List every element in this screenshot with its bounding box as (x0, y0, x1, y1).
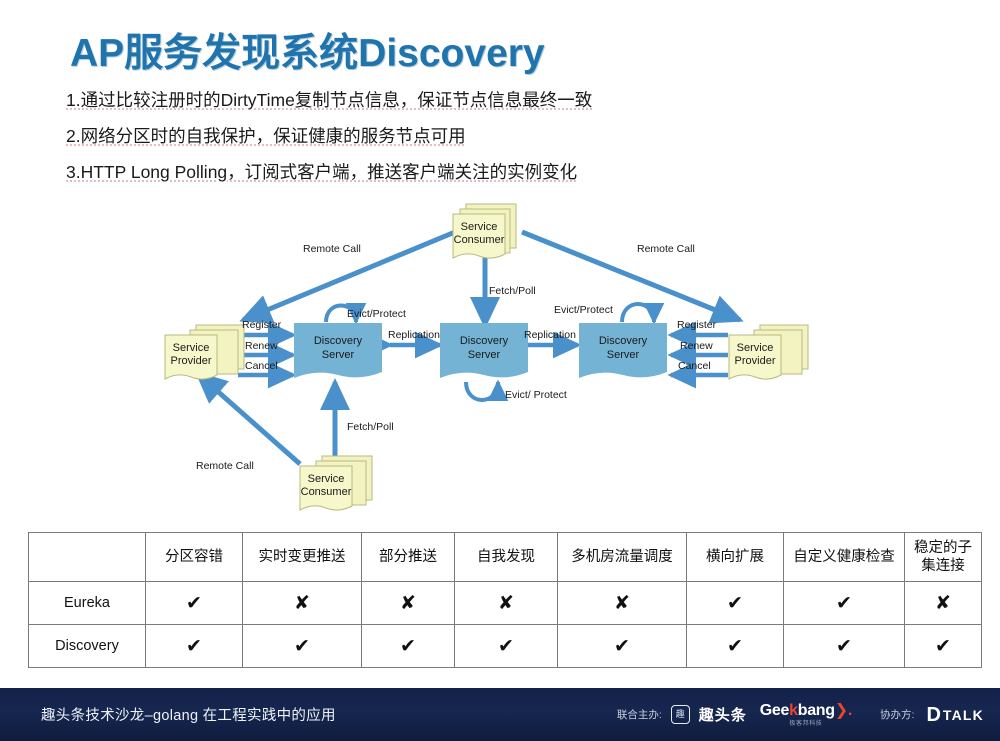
edge-label-replication-right: Replication (524, 329, 576, 341)
qutoutiao-logo-icon: 趣 (671, 705, 690, 724)
footer-title: 趣头条技术沙龙–golang 在工程实践中的应用 (41, 704, 336, 725)
table-cell: ✔ (146, 582, 243, 625)
node-discovery-server-left: Discovery Server (294, 323, 382, 378)
partner-label: 协办方: (880, 707, 914, 722)
table-cell: ✘ (455, 582, 558, 625)
table-cell: ✘ (362, 582, 455, 625)
edge-label-evict-protect-left: Evict/Protect (347, 308, 406, 320)
edge-evict-protect-middle (466, 382, 498, 400)
node-label: Provider (171, 355, 212, 367)
edge-label-replication-left: Replication (388, 329, 440, 341)
dtalk-wordmark: TALK (943, 707, 984, 723)
table-cell: ✘ (558, 582, 687, 625)
status-mark: ✔ (498, 636, 514, 657)
table-header-line1: 稳定的子 (905, 539, 981, 557)
table-cell: ✔ (558, 625, 687, 668)
status-mark: ✘ (614, 593, 630, 614)
node-label: Consumer (454, 234, 505, 246)
edge-label-renew-right: Renew (680, 340, 713, 352)
node-discovery-server-middle: Discovery Server (440, 323, 528, 378)
table-cell: ✔ (905, 625, 982, 668)
edge-label-remote-call-top-left: Remote Call (303, 243, 361, 255)
node-service-consumer-bottom: Service Consumer (300, 456, 372, 510)
table-cell: ✔ (687, 625, 784, 668)
dtalk-d-mark: D (926, 705, 940, 725)
bullet-item-2: 2.网络分区时的自我保护，保证健康的服务节点可用 (66, 121, 826, 152)
node-label: Service (308, 473, 345, 485)
table-cell: ✔ (784, 625, 905, 668)
table-cell: ✔ (687, 582, 784, 625)
edge-evict-protect-right (622, 304, 654, 322)
sponsor-bar: 联合主办: 趣 趣头条 Geekbang❯. 极客邦科技 协办方: D TALK (617, 688, 984, 741)
edge-label-evict-protect-middle: Evict/ Protect (505, 389, 567, 401)
architecture-diagram: Service Consumer Service Consumer Servic… (0, 192, 1000, 522)
table-header-cell: 分区容错 (146, 533, 243, 582)
node-label: Provider (735, 355, 776, 367)
geekbang-arrow-icon: ❯. (835, 702, 852, 719)
bullet-list: 1.通过比较注册时的DirtyTime复制节点信息，保证节点信息最终一致 2.网… (66, 85, 826, 193)
status-mark: ✔ (294, 636, 310, 657)
table-header-cell: 稳定的子 集连接 (905, 533, 982, 582)
geekbang-part-k: k (789, 702, 798, 719)
geekbang-subtitle: 极客邦科技 (789, 721, 822, 727)
page-title: AP服务发现系统Discovery (70, 22, 545, 78)
node-label: Discovery (599, 335, 648, 347)
edge-label-remote-call-bottom-left: Remote Call (196, 460, 254, 472)
edge-label-renew-left: Renew (245, 340, 278, 352)
table-header-cell: 部分推送 (362, 533, 455, 582)
edge-label-fetch-poll-top: Fetch/Poll (489, 285, 536, 297)
node-label: Discovery (460, 335, 509, 347)
table-cell: ✘ (905, 582, 982, 625)
table-header-cell: 横向扩展 (687, 533, 784, 582)
node-service-consumer-top: Service Consumer (453, 204, 516, 258)
edge-label-fetch-poll-bottom: Fetch/Poll (347, 421, 394, 433)
edge-label-register-left: Register (242, 319, 282, 331)
table-cell: ✔ (455, 625, 558, 668)
node-discovery-server-right: Discovery Server (579, 323, 667, 378)
table-cell: ✘ (243, 582, 362, 625)
status-mark: ✘ (935, 593, 951, 614)
node-label: Server (607, 349, 640, 361)
node-service-provider-left: Service Provider (165, 325, 244, 379)
table-header-cell: 多机房流量调度 (558, 533, 687, 582)
geekbang-part2: bang (798, 702, 835, 719)
cohost-label: 联合主办: (617, 707, 662, 722)
geekbang-wordmark: Geekbang❯. (760, 703, 852, 719)
table-header-cell: 自我发现 (455, 533, 558, 582)
status-mark: ✔ (614, 636, 630, 657)
edge-label-evict-protect-right: Evict/Protect (554, 304, 613, 316)
table-cell: ✔ (243, 625, 362, 668)
node-label: Server (468, 349, 501, 361)
feature-comparison-table: 分区容错 实时变更推送 部分推送 自我发现 多机房流量调度 横向扩展 自定义健康… (28, 532, 982, 668)
bullet-item-3: 3.HTTP Long Polling，订阅式客户端，推送客户端关注的实例变化 (66, 157, 826, 188)
table-cell: ✔ (146, 625, 243, 668)
edge-label-remote-call-top-right: Remote Call (637, 243, 695, 255)
status-mark: ✘ (294, 593, 310, 614)
status-mark: ✘ (400, 593, 416, 614)
status-mark: ✘ (498, 593, 514, 614)
table-row-label: Eureka (29, 582, 146, 625)
table-header-line2: 集连接 (905, 557, 981, 575)
table-header-cell: 实时变更推送 (243, 533, 362, 582)
slide-footer: 趣头条技术沙龙–golang 在工程实践中的应用 联合主办: 趣 趣头条 Gee… (0, 688, 1000, 741)
status-mark: ✔ (935, 636, 951, 657)
edge-label-cancel-left: Cancel (245, 360, 278, 372)
table-header-cell: 自定义健康检查 (784, 533, 905, 582)
table-row: Eureka ✔ ✘ ✘ ✘ ✘ ✔ ✔ ✘ (29, 582, 982, 625)
status-mark: ✔ (727, 636, 743, 657)
qutoutiao-name: 趣头条 (699, 704, 747, 725)
dtalk-logo-icon: D TALK (926, 705, 984, 725)
table-row-label: Discovery (29, 625, 146, 668)
node-label: Consumer (301, 486, 352, 498)
geekbang-part1: Gee (760, 702, 789, 719)
table-cell: ✔ (362, 625, 455, 668)
status-mark: ✔ (186, 636, 202, 657)
status-mark: ✔ (186, 593, 202, 614)
status-mark: ✔ (836, 593, 852, 614)
node-label: Service (173, 342, 210, 354)
table-corner-cell (29, 533, 146, 582)
node-label: Server (322, 349, 355, 361)
node-label: Service (737, 342, 774, 354)
bullet-item-1: 1.通过比较注册时的DirtyTime复制节点信息，保证节点信息最终一致 (66, 85, 826, 116)
status-mark: ✔ (400, 636, 416, 657)
node-label: Discovery (314, 335, 363, 347)
edge-remote-call-bottom-left (198, 374, 300, 464)
table-row: Discovery ✔ ✔ ✔ ✔ ✔ ✔ ✔ ✔ (29, 625, 982, 668)
edge-label-cancel-right: Cancel (678, 360, 711, 372)
geekbang-logo-icon: Geekbang❯. 极客邦科技 (760, 703, 852, 727)
status-mark: ✔ (836, 636, 852, 657)
node-label: Service (461, 221, 498, 233)
node-service-provider-right: Service Provider (729, 325, 808, 379)
status-mark: ✔ (727, 593, 743, 614)
table-header-row: 分区容错 实时变更推送 部分推送 自我发现 多机房流量调度 横向扩展 自定义健康… (29, 533, 982, 582)
table-cell: ✔ (784, 582, 905, 625)
edge-label-register-right: Register (677, 319, 717, 331)
